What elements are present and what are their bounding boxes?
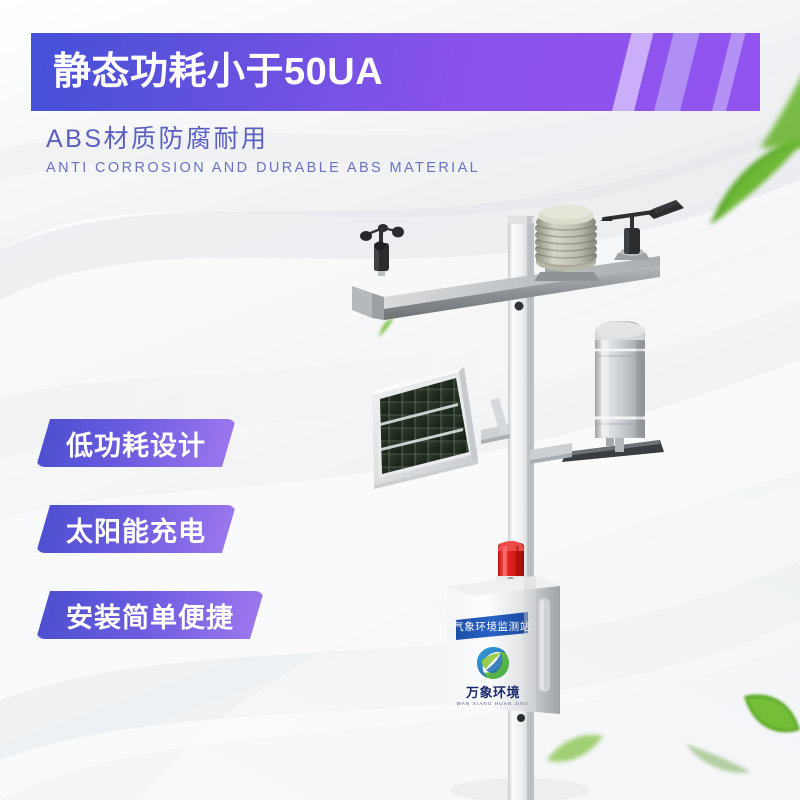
subtitle-block: ABS材质防腐耐用 ANTI CORROSION AND DURABLE ABS… (46, 124, 606, 176)
crossarm (352, 256, 660, 320)
anemometer (360, 224, 404, 276)
feature-pill-label: 低功耗设计 (66, 424, 206, 463)
banner-stripe-group (530, 33, 760, 111)
banner-title: 静态功耗小于50UA (53, 53, 383, 91)
feature-pill-solar-charging: 太阳能充电 (36, 505, 236, 553)
product-poster: 气象环境监测站 万象环境 WAN XIANG HUAN JING (0, 0, 800, 800)
brand-name-pinyin: WAN XIANG HUAN JING (456, 701, 529, 706)
banner-stripe-1 (605, 33, 657, 111)
subtitle-english: ANTI CORROSION AND DURABLE ABS MATERIAL (46, 160, 606, 176)
banner-stripe-2 (647, 33, 703, 111)
subtitle-chinese: ABS材质防腐耐用 (46, 124, 606, 155)
control-box-band-text: 气象环境监测站 (453, 620, 531, 633)
wind-vane (600, 200, 684, 260)
rain-gauge (562, 321, 664, 462)
banner-stripe-3 (705, 33, 749, 111)
brand-logo (476, 646, 510, 680)
brand-name-cn: 万象环境 (465, 685, 520, 700)
control-box: 气象环境监测站 万象环境 WAN XIANG HUAN JING (447, 541, 560, 714)
feature-pill-label: 安装简单便捷 (66, 596, 234, 635)
header-banner: 静态功耗小于50UA (31, 33, 760, 111)
feature-pill-label: 太阳能充电 (66, 510, 206, 549)
feature-pill-easy-install: 安装简单便捷 (36, 591, 264, 639)
weather-station-product-image: 气象环境监测站 万象环境 WAN XIANG HUAN JING (0, 0, 800, 800)
feature-pill-low-power: 低功耗设计 (36, 419, 236, 467)
solar-panel (372, 367, 510, 489)
